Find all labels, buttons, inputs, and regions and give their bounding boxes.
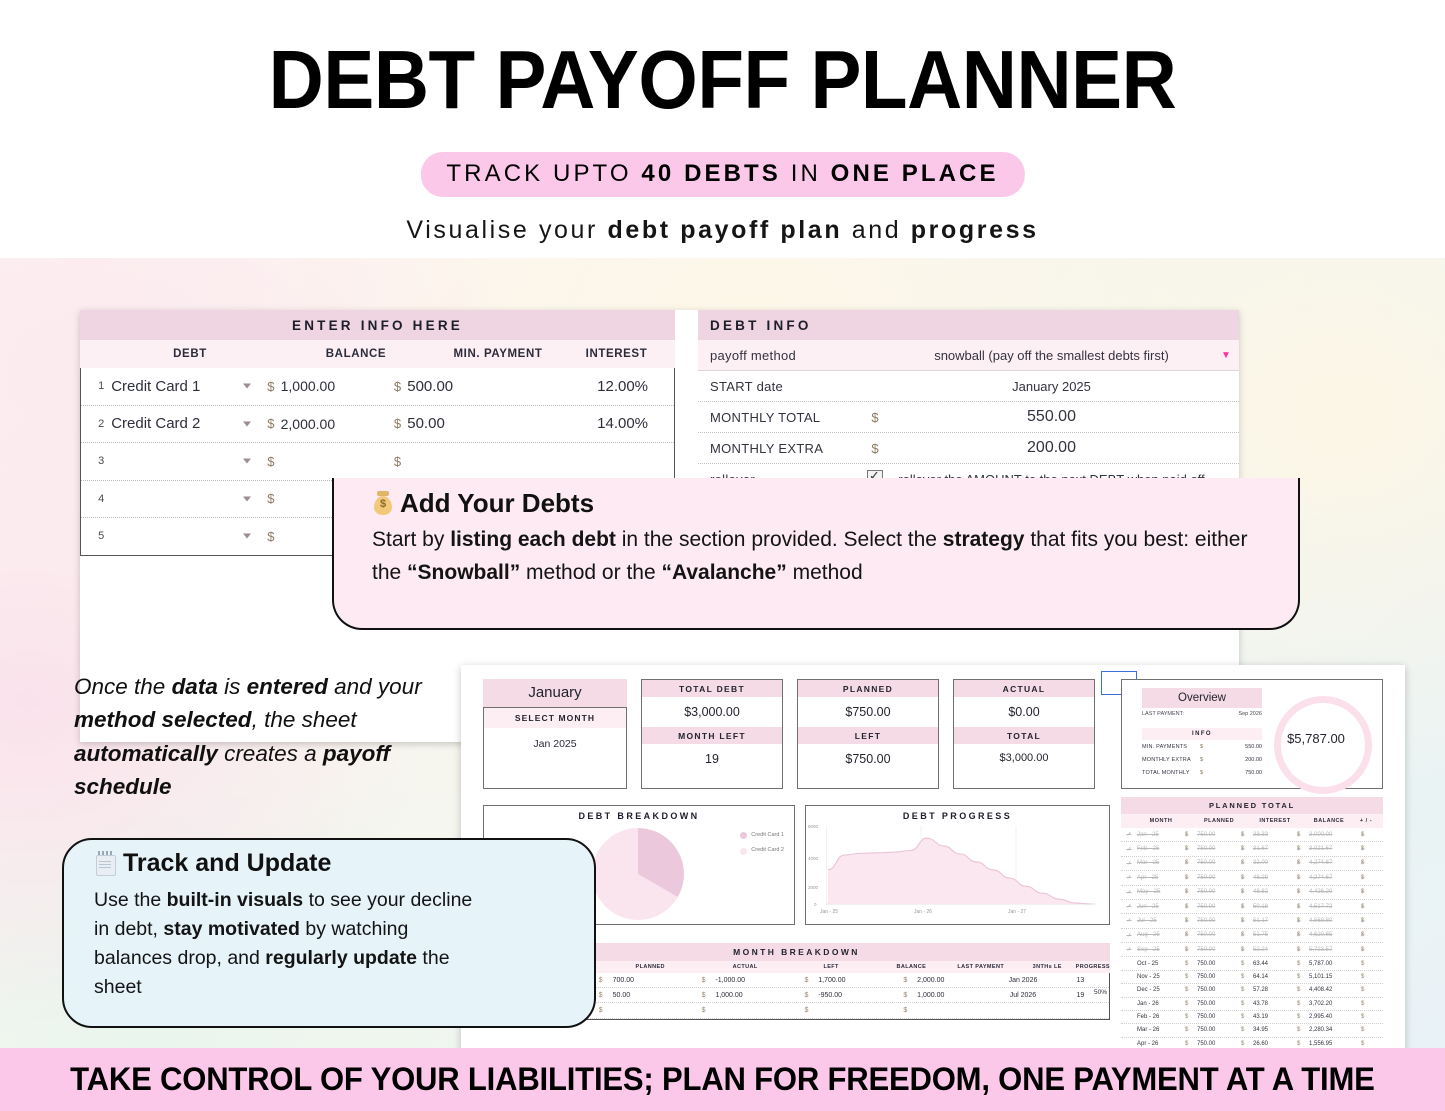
notepad-icon [94,851,116,875]
select-month-label: SELECT MONTH [484,708,626,728]
currency-symbol: $ [1361,875,1373,881]
debt-info-label: MONTHLY EXTRA [698,441,860,456]
pt-interest: 43.19 [1253,1014,1297,1020]
mb-planned: 700.00 [613,977,702,984]
balance-cell[interactable]: 2,000.00 [281,416,388,432]
pt-balance: 4,274.67 [1309,860,1361,866]
currency-symbol: $ [903,992,917,999]
interest-cell[interactable]: 12.00% [514,378,674,395]
planned-total-row[interactable]: ✓May - 25$750.00$48.62$4,426.20$ [1121,886,1383,900]
debt-info-rows[interactable]: payoff methodsnowball (pay off the small… [698,340,1239,495]
currency-symbol: $ [1297,889,1309,895]
min-payment-cell[interactable]: 500.00 [407,378,514,395]
planned-total-row[interactable]: Jan - 26$750.00$43.78$3,702.20$ [1121,998,1383,1011]
col-balance: BALANCE [296,348,416,360]
tagline-bold-place: ONE PLACE [831,160,999,187]
pt-month: Feb - 25 [1137,846,1185,852]
paid-check-icon[interactable]: ✓ [1121,917,1137,924]
month-title: January [483,679,627,707]
col-debt: DEBT [106,348,274,360]
stat-head-1b: MONTH LEFT [642,727,782,744]
planned-total-row[interactable]: Apr - 26$750.00$26.60$1,556.95$ [1121,1038,1383,1048]
pt-interest: 48.62 [1253,889,1297,895]
ca-b2: strategy [943,528,1025,551]
legend-dot-1 [740,832,747,839]
col-interest: INTEREST [558,348,675,360]
stat-val-2a: $750.00 [798,697,938,727]
overview-ring-amount: $5,787.00 [1274,696,1358,780]
pt-interest: 48.29 [1253,875,1297,881]
currency-symbol: $ [1361,1027,1373,1033]
currency-symbol: $ [1241,974,1253,980]
overview-title: Overview [1142,688,1262,708]
planned-total-row[interactable]: Oct - 25$750.00$63.44$5,787.00$ [1121,957,1383,970]
pt-planned: 750.00 [1197,1041,1241,1047]
pt-balance: 2,995.40 [1309,1014,1361,1020]
pt-month: May - 25 [1137,889,1185,895]
line-chart-title: DEBT PROGRESS [806,806,1109,821]
currency-symbol: $ [702,977,716,984]
enter-info-column-headers: DEBT BALANCE MIN. PAYMENT INTEREST [80,340,675,368]
ovr1-label: MIN. PAYMENTS [1142,744,1200,750]
chevron-down-icon[interactable] [243,459,251,464]
page-title: DEBT PAYOFF PLANNER [58,38,1387,121]
ca-b4: “Avalanche” [661,561,786,584]
pt-month: Mar - 26 [1137,1027,1185,1033]
pt-interest: 51.17 [1253,918,1297,924]
pt-month: Oct - 25 [1137,961,1185,967]
pie-chart-legend: Credit Card 1 Credit Card 2 [740,828,784,859]
currency-symbol: $ [1297,875,1309,881]
currency-symbol: $ [1185,1014,1197,1020]
currency-symbol: $ [1297,947,1309,953]
in-t1: Once the [74,674,172,699]
stat-card-planned: PLANNED $750.00 LEFT $750.00 [797,679,939,789]
paid-check-icon[interactable]: ✓ [1121,874,1137,881]
currency-symbol: $ [261,379,281,394]
pt-col-month: MONTH [1137,818,1185,824]
subtitle-bold-progress: progress [911,216,1039,244]
legend-item-2: Credit Card 2 [740,843,784,858]
ca-t5: method [787,561,863,584]
mb-balance: 2,000.00 [917,977,994,984]
currency-symbol: $ [1185,889,1197,895]
currency-symbol: $ [1361,889,1373,895]
subtitle: Visualise your debt payoff plan and prog… [0,216,1445,245]
pt-balance: 2,280.34 [1309,1027,1361,1033]
currency-symbol: $ [804,1007,818,1014]
callout-track-and-update: Track and Update Use the built-in visual… [62,838,596,1028]
pt-month: Jul - 25 [1137,918,1185,924]
tagline-bold-debts: 40 DEBTS [641,160,781,187]
debt-info-title: DEBT INFO [698,310,1239,340]
pt-month: Jun - 25 [1137,904,1185,910]
dashboard-screenshot: January SELECT MONTH Jan 2025 TOTAL DEBT… [461,665,1405,1048]
debt-info-row[interactable]: START dateJanuary 2025 [698,371,1239,402]
mb-planned: 50.00 [613,992,702,999]
currency-symbol: $ [1297,1041,1309,1047]
pt-planned: 750.00 [1197,961,1241,967]
footer-text: TAKE CONTROL OF YOUR LIABILITIES; PLAN F… [70,1061,1374,1098]
subtitle-mid: and [842,216,911,244]
debt-info-value[interactable]: 200.00 [890,439,1213,457]
currency-symbol: $ [702,1007,716,1014]
debt-name-cell[interactable]: Credit Card 1 [111,378,261,395]
currency-symbol: $ [1185,961,1197,967]
mb-col-left: LEFT [796,964,866,970]
planned-total-row[interactable]: ✓Jun - 25$750.00$50.18$4,517.72$ [1121,900,1383,914]
in-t5: creates a [218,741,323,766]
x-tick-1: Jan - 25 [820,909,838,915]
currency-symbol: $ [1185,875,1197,881]
pt-month: Sep - 25 [1137,947,1185,953]
planned-total-table: PLANNED TOTAL MONTH PLANNED INTEREST BAL… [1121,797,1383,1048]
pt-planned: 750.00 [1197,832,1241,838]
currency-symbol: $ [1297,1014,1309,1020]
stat-card-total-debt: TOTAL DEBT $3,000.00 MONTH LEFT 19 [641,679,783,789]
debt-info-row[interactable]: payoff methodsnowball (pay off the small… [698,340,1239,371]
debt-info-mid: $ [860,441,890,456]
mb-last-payment: Jul 2026 [994,992,1051,999]
currency-symbol: $ [1361,1014,1373,1020]
pt-balance: 4,408.42 [1309,987,1361,993]
currency-symbol: $ [1241,832,1253,838]
ovr2-cur: $ [1200,757,1214,763]
currency-symbol: $ [1361,1041,1373,1047]
pt-month: Mar - 25 [1137,860,1185,866]
row-number: 2 [81,418,111,430]
pt-planned: 750.00 [1197,918,1241,924]
currency-symbol: $ [1241,1027,1253,1033]
row-number: 3 [81,455,111,467]
pt-planned: 750.00 [1197,987,1241,993]
mb-last-payment: Jan 2026 [994,977,1051,984]
currency-symbol: $ [1185,1041,1197,1047]
enter-info-row[interactable]: 1Credit Card 1$1,000.00$500.0012.00% [81,368,674,406]
currency-symbol: $ [599,1007,613,1014]
callout-add-body: Start by listing each debt in the sectio… [372,524,1262,589]
balance-cell[interactable]: 1,000.00 [281,378,388,394]
interest-cell[interactable]: 14.00% [514,415,674,432]
currency-symbol: $ [388,454,408,469]
pt-month: Aug - 25 [1137,932,1185,938]
paid-check-icon[interactable]: ✓ [1121,846,1137,853]
mb-col-actual: ACTUAL [708,964,782,970]
currency-symbol: $ [1361,846,1373,852]
debt-info-label: MONTHLY TOTAL [698,410,860,425]
pt-col-interest: INTEREST [1253,818,1297,824]
planned-total-row[interactable]: ✓Aug - 25$750.00$51.75$4,620.65$ [1121,929,1383,943]
currency-symbol: $ [1361,918,1373,924]
debt-name-cell[interactable]: Credit Card 2 [111,415,261,432]
ovr3-label: TOTAL MONTHLY [1142,770,1200,776]
chevron-down-icon[interactable]: ▼ [1213,350,1239,361]
planned-total-row[interactable]: Feb - 26$750.00$43.19$2,995.40$ [1121,1011,1383,1024]
legend-label-2: Credit Card 2 [751,843,784,858]
pt-planned: 750.00 [1197,1001,1241,1007]
ca-b3: “Snowball” [407,561,520,584]
currency-symbol: $ [1297,987,1309,993]
chevron-down-icon[interactable] [243,384,251,389]
pt-interest: 32.00 [1253,860,1297,866]
pt-month: Jan - 25 [1137,832,1185,838]
pt-month: Apr - 25 [1137,875,1185,881]
mb-actual[interactable]: -1,000.00 [715,977,804,984]
ca-t1: Start by [372,528,450,551]
callout-track-body: Use the built-in visuals to see your dec… [94,886,474,1001]
x-tick-3: Jan - 27 [1008,909,1026,915]
callout-track-title-text: Track and Update [123,849,331,877]
overview-info-header: INFO [1142,728,1262,740]
ca-t4: method or the [520,561,661,584]
mb-col-last-payment: LAST PAYMENT [943,964,1019,970]
mb-actual[interactable]: 1,000.00 [715,992,804,999]
ovr3-val: 750.00 [1214,770,1262,776]
pt-interest: 43.78 [1253,1001,1297,1007]
debt-info-value[interactable]: 550.00 [890,408,1213,426]
currency-symbol: $ [1297,846,1309,852]
chevron-down-icon[interactable] [243,421,251,426]
pt-balance: 4,426.20 [1309,889,1361,895]
currency-symbol: $ [1361,987,1373,993]
legend-dot-2 [740,848,747,855]
pt-balance: 4,517.72 [1309,904,1361,910]
currency-symbol: $ [599,977,613,984]
mb-balance: 1,000.00 [917,992,994,999]
currency-symbol: $ [599,992,613,999]
chart-debt-progress: DEBT PROGRESS 6000 4000 2000 0 Jan - 25 … [805,805,1110,925]
in-t3: and your [328,674,422,699]
currency-symbol: $ [1185,832,1197,838]
pt-month: Jan - 26 [1137,1001,1185,1007]
in-t4: , the sheet [252,707,357,732]
currency-symbol: $ [388,416,408,431]
pt-interest: 51.75 [1253,932,1297,938]
stat-head-2b: LEFT [798,727,938,744]
subtitle-bold-plan: debt payoff plan [608,216,843,244]
legend-label-1: Credit Card 1 [751,828,784,843]
select-month-box[interactable]: SELECT MONTH Jan 2025 [483,707,627,789]
stat-head-3a: ACTUAL [954,680,1094,697]
pt-balance: 3,000.00 [1309,832,1361,838]
planned-total-row[interactable]: ✓Jul - 25$750.00$51.17$4,568.80$ [1121,914,1383,928]
planned-total-row[interactable]: Nov - 25$750.00$64.14$5,101.15$ [1121,971,1383,984]
pt-balance: 3,021.67 [1309,846,1361,852]
mb-left: 1,700.00 [818,977,903,984]
currency-symbol: $ [1297,904,1309,910]
pt-month: Nov - 25 [1137,974,1185,980]
y-tick-0: 0 [814,902,817,907]
currency-symbol: $ [1361,832,1373,838]
pt-balance: 5,101.15 [1309,974,1361,980]
y-tick-4000: 4000 [808,856,818,861]
mb-col-months-left: 3NTHs LE [1019,964,1076,970]
currency-symbol: $ [1185,974,1197,980]
pt-interest: 64.14 [1253,974,1297,980]
x-tick-2: Jan - 26 [914,909,932,915]
footer-banner: TAKE CONTROL OF YOUR LIABILITIES; PLAN F… [0,1048,1445,1111]
pt-col-balance: BALANCE [1309,818,1349,824]
y-tick-2000: 2000 [808,885,818,890]
in-t2: is [218,674,247,699]
currency-symbol: $ [1297,1001,1309,1007]
currency-symbol: $ [1361,932,1373,938]
overview-row-min-payments: MIN. PAYMENTS$550.00 [1142,744,1262,750]
in-b1: data [172,674,218,699]
ct-t1: Use the [94,889,167,911]
callout-add-title: Add Your Debts [372,488,594,519]
pt-balance: 4,568.80 [1309,918,1361,924]
planned-total-row[interactable]: Mar - 26$750.00$34.95$2,280.34$ [1121,1024,1383,1037]
currency-symbol: $ [1185,1027,1197,1033]
pt-planned: 750.00 [1197,846,1241,852]
pt-interest: 34.95 [1253,1027,1297,1033]
paid-check-icon[interactable]: ✓ [1121,903,1137,910]
in-b2: entered [247,674,328,699]
page-header: DEBT PAYOFF PLANNER TRACK UPTO 40 DEBTS … [0,0,1445,258]
pt-planned: 750.00 [1197,860,1241,866]
pt-interest: 26.60 [1253,1041,1297,1047]
row-number: 1 [81,380,111,392]
paid-check-icon[interactable]: ✓ [1121,860,1137,867]
tagline-mid: IN [781,160,831,187]
stat-val-1a: $3,000.00 [642,697,782,727]
tagline-pre: TRACK UPTO [446,160,641,187]
in-b4: automatically [74,741,218,766]
debt-info-row[interactable]: MONTHLY EXTRA$200.00 [698,433,1239,464]
currency-symbol: $ [1361,860,1373,866]
enter-info-row[interactable]: 3$$ [81,443,674,481]
ovr2-val: 200.00 [1214,757,1262,763]
paid-check-icon[interactable]: ✓ [1121,831,1137,838]
planned-total-row[interactable]: ✓Apr - 25$750.00$48.29$4,274.67$ [1121,871,1383,885]
pie-chart-graphic [592,828,684,920]
ovr1-val: 550.00 [1214,744,1262,750]
ovr3-cur: $ [1200,770,1214,776]
currency-symbol: $ [261,529,281,544]
ca-t2: in the section provided. Select the [616,528,943,551]
enter-info-row[interactable]: 2Credit Card 2$2,000.00$50.0014.00% [81,406,674,444]
paid-check-icon[interactable]: ✓ [1121,889,1137,896]
currency-symbol: $ [261,454,281,469]
planned-total-row[interactable]: Dec - 25$750.00$57.28$4,408.42$ [1121,984,1383,997]
currency-symbol: $ [903,977,917,984]
currency-symbol: $ [1185,1001,1197,1007]
currency-symbol: $ [903,1007,917,1014]
currency-symbol: $ [1361,974,1373,980]
money-bag-icon [372,490,394,516]
planned-total-row[interactable]: ✓Mar - 25$750.00$32.00$4,274.67$ [1121,857,1383,871]
row-number: 4 [81,493,111,505]
pt-interest: 31.67 [1253,846,1297,852]
pt-balance: 4,620.65 [1309,932,1361,938]
currency-symbol: $ [1241,987,1253,993]
currency-symbol: $ [1241,875,1253,881]
pt-planned: 750.00 [1197,932,1241,938]
debt-info-row[interactable]: MONTHLY TOTAL$550.00 [698,402,1239,433]
currency-symbol: $ [1361,961,1373,967]
pt-planned: 750.00 [1197,1027,1241,1033]
in-b3: method selected [74,707,252,732]
currency-symbol: $ [804,992,818,999]
stat-head-1a: TOTAL DEBT [642,680,782,697]
pt-month: Feb - 26 [1137,1014,1185,1020]
callout-track-title: Track and Update [94,849,331,878]
chevron-down-icon[interactable] [243,496,251,501]
y-tick-6000: 6000 [808,824,818,829]
currency-symbol: $ [1241,961,1253,967]
subtitle-pre: Visualise your [406,216,607,244]
pt-col-planned: PLANNED [1197,818,1241,824]
currency-symbol: $ [1297,961,1309,967]
line-chart-graphic [826,826,1096,908]
stat-val-2b: $750.00 [798,744,938,774]
planned-total-rows[interactable]: ✓Jan - 25$750.00$33.33$3,000.00$✓Feb - 2… [1121,828,1383,1048]
overview-row-total-monthly: TOTAL MONTHLY$750.00 [1142,770,1262,776]
debt-info-value[interactable]: snowball (pay off the smallest debts fir… [890,348,1213,363]
currency-symbol: $ [1241,889,1253,895]
last-payment-value: Sep 2026 [1238,711,1262,717]
min-payment-cell[interactable]: 50.00 [407,415,514,432]
select-month-value[interactable]: Jan 2025 [484,728,626,750]
debt-info-label: START date [698,379,860,394]
pt-balance: 4,274.67 [1309,875,1361,881]
pt-month: Dec - 25 [1137,987,1185,993]
currency-symbol: $ [1241,904,1253,910]
currency-symbol: $ [1297,932,1309,938]
pt-interest: 57.28 [1253,987,1297,993]
ct-b3: regularly update [265,947,417,969]
stat-val-3b: $3,000.00 [954,744,1094,772]
stat-card-actual: ACTUAL $0.00 TOTAL $3,000.00 [953,679,1095,789]
debt-info-value[interactable]: January 2025 [890,379,1213,394]
currency-symbol: $ [1241,1014,1253,1020]
ct-b1: built-in visuals [167,889,304,911]
tagline-pill: TRACK UPTO 40 DEBTS IN ONE PLACE [420,152,1024,197]
pt-interest: 52.24 [1253,947,1297,953]
currency-symbol: $ [1297,860,1309,866]
pt-balance: 5,723.57 [1309,947,1361,953]
paid-check-icon[interactable]: ✓ [1121,946,1137,953]
currency-symbol: $ [1185,846,1197,852]
pt-month: Apr - 26 [1137,1041,1185,1047]
pie-chart-title: DEBT BREAKDOWN [484,806,794,821]
row-number: 5 [81,530,111,542]
pt-balance: 3,702.20 [1309,1001,1361,1007]
chevron-down-icon[interactable] [243,534,251,539]
paid-check-icon[interactable]: ✓ [1121,932,1137,939]
legend-item-1: Credit Card 1 [740,828,784,843]
ct-b2: stay motivated [163,918,300,940]
stat-val-1b: 19 [642,744,782,774]
planned-total-row[interactable]: ✓Sep - 25$750.00$52.24$5,723.57$ [1121,943,1383,957]
planned-total-row[interactable]: ✓Jan - 25$750.00$33.33$3,000.00$ [1121,828,1383,842]
mb-months-left: 13 [1052,977,1109,984]
planned-total-row[interactable]: ✓Feb - 25$750.00$31.67$3,021.67$ [1121,842,1383,856]
currency-symbol: $ [388,379,408,394]
pt-balance: 5,787.00 [1309,961,1361,967]
callout-add-title-text: Add Your Debts [400,488,594,518]
overview-row-monthly-extra: MONTHLY EXTRA$200.00 [1142,757,1262,763]
pt-interest: 63.44 [1253,961,1297,967]
currency-symbol: $ [1241,846,1253,852]
currency-symbol: $ [1185,932,1197,938]
currency-symbol: $ [261,491,281,506]
currency-symbol: $ [1185,918,1197,924]
debt-info-mid: $ [860,410,890,425]
currency-symbol: $ [1241,932,1253,938]
pt-planned: 750.00 [1197,1014,1241,1020]
